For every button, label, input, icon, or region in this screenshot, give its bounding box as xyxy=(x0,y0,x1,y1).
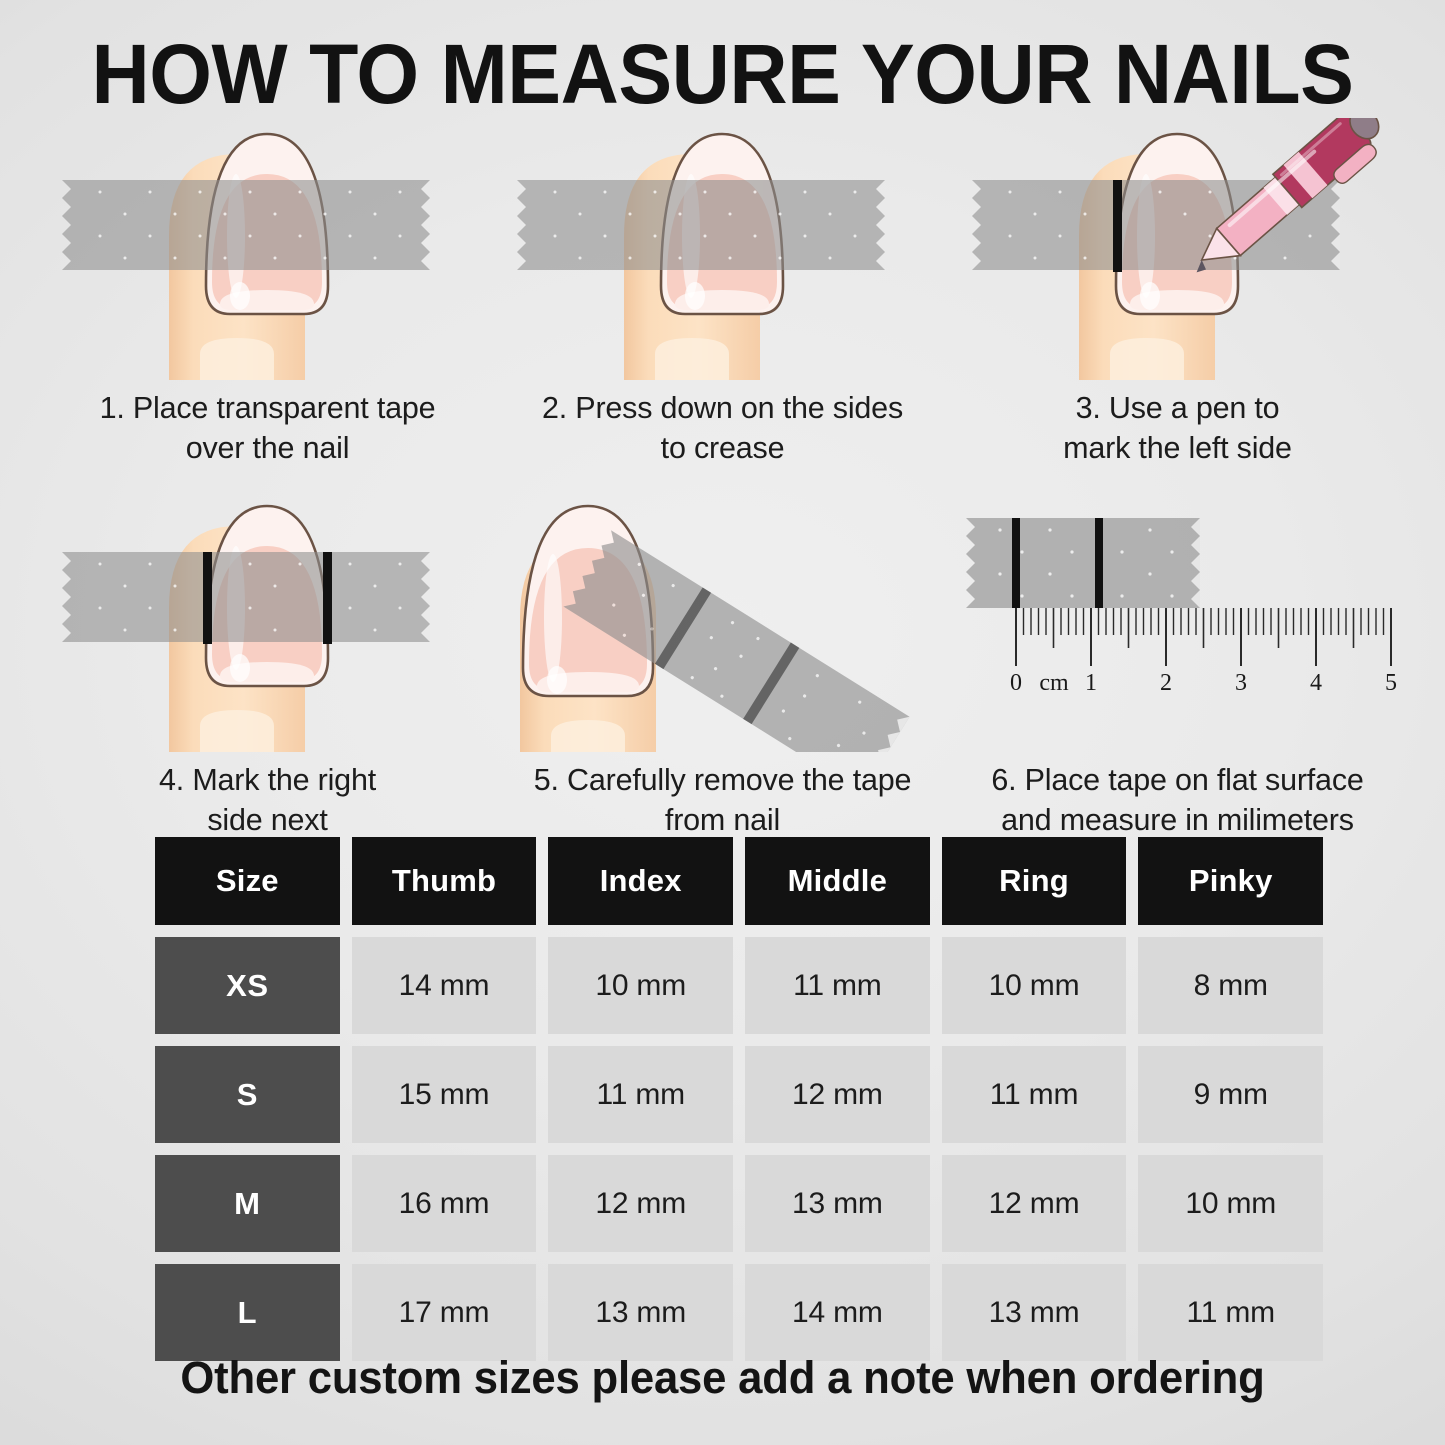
flat-tape xyxy=(966,518,1200,608)
cell-l-ring: 13 mm xyxy=(942,1264,1127,1361)
step-4-caption-line-1: 4. Mark the right xyxy=(53,760,483,800)
ruler-label-4: 4 xyxy=(1310,670,1322,696)
table-row: M 16 mm 12 mm 13 mm 12 mm 10 mm xyxy=(155,1155,1323,1252)
ruler-label-3: 3 xyxy=(1235,670,1247,696)
cell-l-pinky: 11 mm xyxy=(1138,1264,1323,1361)
table-header-row: Size Thumb Index Middle Ring Pinky xyxy=(155,837,1323,925)
step-6-caption-line-1: 6. Place tape on flat surface xyxy=(963,760,1393,800)
cell-s-middle: 12 mm xyxy=(745,1046,930,1143)
cell-xs-ring: 10 mm xyxy=(942,937,1127,1034)
step-2-illustration xyxy=(495,118,950,380)
step-3: 3. Use a pen to mark the left side xyxy=(950,118,1405,468)
table-row: XS 14 mm 10 mm 11 mm 10 mm 8 mm xyxy=(155,937,1323,1034)
step-6-illustration: 0 cm 1 2 3 4 5 xyxy=(950,490,1405,752)
table-header-size: Size xyxy=(155,837,340,925)
step-4-caption: 4. Mark the right side next xyxy=(53,760,483,840)
step-6-caption-line-2: and measure in milimeters xyxy=(963,800,1393,840)
step-1-caption-line-1: 1. Place transparent tape xyxy=(53,388,483,428)
cell-xs-pinky: 8 mm xyxy=(1138,937,1323,1034)
step-5-illustration xyxy=(495,490,950,752)
size-chart-table: Size Thumb Index Middle Ring Pinky XS 14… xyxy=(155,837,1323,1373)
step-6-caption: 6. Place tape on flat surface and measur… xyxy=(963,760,1393,840)
step-6: 0 cm 1 2 3 4 5 6. Place tape on flat xyxy=(950,490,1405,840)
finger-both-marks-icon xyxy=(40,490,495,752)
step-2-caption: 2. Press down on the sides to crease xyxy=(508,388,938,468)
table-header-pinky: Pinky xyxy=(1138,837,1323,925)
step-4: 4. Mark the right side next xyxy=(40,490,495,840)
infographic-page: HOW TO MEASURE YOUR NAILS xyxy=(0,0,1445,1445)
table-row: L 17 mm 13 mm 14 mm 13 mm 11 mm xyxy=(155,1264,1323,1361)
table-header-index: Index xyxy=(548,837,733,925)
cell-m-thumb: 16 mm xyxy=(352,1155,537,1252)
step-1-caption: 1. Place transparent tape over the nail xyxy=(53,388,483,468)
tape-on-ruler-icon: 0 cm 1 2 3 4 5 xyxy=(950,490,1405,752)
table-header-middle: Middle xyxy=(745,837,930,925)
step-2-caption-line-1: 2. Press down on the sides xyxy=(508,388,938,428)
size-label-l: L xyxy=(155,1264,340,1361)
cell-s-pinky: 9 mm xyxy=(1138,1046,1323,1143)
cell-l-middle: 14 mm xyxy=(745,1264,930,1361)
cell-m-middle: 13 mm xyxy=(745,1155,930,1252)
left-mark xyxy=(203,552,212,644)
finger-with-tape-icon xyxy=(40,118,495,380)
table-header-ring: Ring xyxy=(942,837,1127,925)
step-4-caption-line-2: side next xyxy=(53,800,483,840)
step-5-caption-line-1: 5. Carefully remove the tape xyxy=(508,760,938,800)
step-3-caption: 3. Use a pen to mark the left side xyxy=(963,388,1393,468)
table-row: S 15 mm 11 mm 12 mm 11 mm 9 mm xyxy=(155,1046,1323,1143)
finger-tape-removed-icon xyxy=(495,490,950,752)
tape-right-mark xyxy=(1095,518,1103,608)
ruler-label-0: 0 xyxy=(1010,670,1022,696)
size-label-xs: XS xyxy=(155,937,340,1034)
size-label-m: M xyxy=(155,1155,340,1252)
cell-m-index: 12 mm xyxy=(548,1155,733,1252)
ruler-label-1: 1 xyxy=(1085,670,1097,696)
ruler-unit-label: cm xyxy=(1039,670,1069,696)
tape-left-mark xyxy=(1012,518,1020,608)
cell-l-thumb: 17 mm xyxy=(352,1264,537,1361)
step-5-caption: 5. Carefully remove the tape from nail xyxy=(508,760,938,840)
step-3-caption-line-2: mark the left side xyxy=(963,428,1393,468)
ruler-label-5: 5 xyxy=(1385,670,1397,696)
cell-s-thumb: 15 mm xyxy=(352,1046,537,1143)
cell-s-ring: 11 mm xyxy=(942,1046,1127,1143)
left-mark xyxy=(1113,180,1122,272)
cell-xs-index: 10 mm xyxy=(548,937,733,1034)
step-3-caption-line-1: 3. Use a pen to xyxy=(963,388,1393,428)
page-title: HOW TO MEASURE YOUR NAILS xyxy=(29,26,1416,123)
steps-row-2: 4. Mark the right side next xyxy=(40,490,1405,840)
ruler-label-2: 2 xyxy=(1160,670,1172,696)
step-2-caption-line-2: to crease xyxy=(508,428,938,468)
finger-pen-mark-icon xyxy=(950,118,1405,380)
step-5-caption-line-2: from nail xyxy=(508,800,938,840)
size-label-s: S xyxy=(155,1046,340,1143)
footer-note: Other custom sizes please add a note whe… xyxy=(22,1352,1424,1404)
finger-tape-pressed-icon xyxy=(495,118,950,380)
step-5: 5. Carefully remove the tape from nail xyxy=(495,490,950,840)
ruler-icon: 0 cm 1 2 3 4 5 xyxy=(1010,608,1397,696)
cell-l-index: 13 mm xyxy=(548,1264,733,1361)
cell-s-index: 11 mm xyxy=(548,1046,733,1143)
cell-m-ring: 12 mm xyxy=(942,1155,1127,1252)
step-4-illustration xyxy=(40,490,495,752)
cell-m-pinky: 10 mm xyxy=(1138,1155,1323,1252)
step-3-illustration xyxy=(950,118,1405,380)
steps-row-1: 1. Place transparent tape over the nail xyxy=(40,118,1405,468)
step-2: 2. Press down on the sides to crease xyxy=(495,118,950,468)
right-mark xyxy=(323,552,332,644)
steps-grid: 1. Place transparent tape over the nail xyxy=(40,118,1405,840)
table-header-thumb: Thumb xyxy=(352,837,537,925)
step-1: 1. Place transparent tape over the nail xyxy=(40,118,495,468)
cell-xs-middle: 11 mm xyxy=(745,937,930,1034)
step-1-caption-line-2: over the nail xyxy=(53,428,483,468)
cell-xs-thumb: 14 mm xyxy=(352,937,537,1034)
step-1-illustration xyxy=(40,118,495,380)
